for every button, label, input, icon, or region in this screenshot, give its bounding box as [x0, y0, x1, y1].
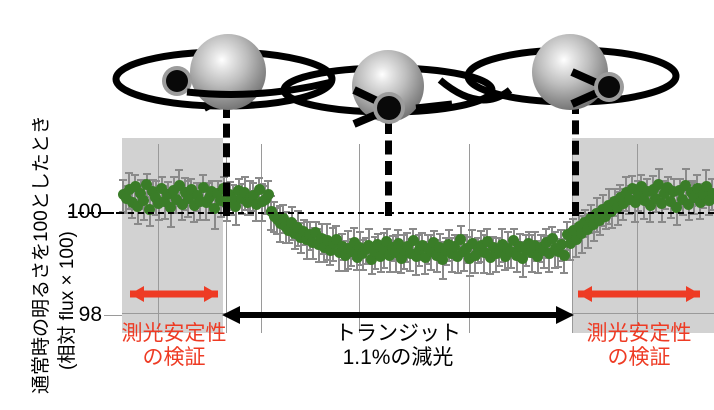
orbit-direction-arrow-after	[440, 18, 680, 118]
error-bar-cap	[507, 267, 515, 269]
error-bar-cap	[614, 224, 622, 226]
left-calibration-label: 測光安定性 の検証	[110, 322, 238, 369]
error-bar-cap	[445, 229, 453, 231]
error-bar-cap	[430, 230, 438, 232]
connector-line-center	[385, 120, 392, 216]
error-bar-cap	[483, 228, 491, 230]
error-bar-cap	[158, 176, 166, 178]
error-bar-cap	[608, 227, 616, 229]
error-bar-cap	[540, 267, 548, 269]
error-bar-cap	[599, 194, 607, 196]
error-bar-cap	[152, 180, 160, 182]
error-bar-cap	[631, 221, 639, 223]
error-bar-cap	[341, 270, 349, 272]
error-bar-cap	[279, 204, 287, 206]
error-bar-cap	[696, 218, 704, 220]
error-bar-cap	[167, 226, 175, 228]
error-bar-cap	[170, 176, 178, 178]
error-bar-cap	[616, 184, 624, 186]
planet-disc-before	[166, 70, 188, 92]
error-bar-cap	[587, 204, 595, 206]
error-bar-cap	[471, 272, 479, 274]
error-bar-cap	[501, 269, 509, 271]
error-bar-cap	[211, 228, 219, 230]
error-bar-cap	[578, 252, 586, 254]
error-bar-cap	[477, 230, 485, 232]
planet-disc-during	[377, 96, 401, 120]
y-tick-mark-98	[104, 315, 122, 316]
left-calibration-label-line2: の検証	[110, 346, 238, 370]
error-bar-cap	[232, 224, 240, 226]
error-bar-cap	[270, 201, 278, 203]
error-bar-cap	[513, 271, 521, 273]
left-calibration-label-line1: 測光安定性	[110, 322, 238, 346]
star-sphere-before	[190, 34, 266, 110]
error-bar-cap	[288, 206, 296, 208]
error-bar-cap	[510, 228, 518, 230]
error-bar-cap	[412, 274, 420, 276]
y-axis-label-secondary: (相対 flux × 100)	[52, 231, 79, 370]
error-bar-cap	[708, 209, 714, 211]
error-bar-cap	[140, 219, 148, 221]
error-bar-cap	[347, 265, 355, 267]
right-calibration-arrow	[566, 284, 712, 304]
error-bar-cap	[297, 252, 305, 254]
error-bar-cap	[409, 228, 417, 230]
error-bar-cap	[394, 229, 402, 231]
error-bar-cap	[383, 228, 391, 230]
error-bar-cap	[356, 231, 364, 233]
error-bar-cap	[217, 216, 225, 218]
error-bar-cap	[406, 270, 414, 272]
error-bar-cap	[175, 169, 183, 171]
error-bar-cap	[685, 219, 693, 221]
error-bar-cap	[131, 174, 139, 176]
data-point	[707, 188, 714, 199]
error-bar-cap	[468, 229, 476, 231]
error-bar-cap	[365, 228, 373, 230]
y-tick-label-98: 98	[56, 303, 102, 327]
error-bar-cap	[323, 223, 331, 225]
error-bar-cap	[545, 271, 553, 273]
right-calibration-label: 測光安定性 の検証	[574, 322, 704, 369]
error-bar-cap	[344, 268, 352, 270]
error-bar-cap	[486, 273, 494, 275]
error-bar-cap	[593, 197, 601, 199]
error-bar-cap	[291, 248, 299, 250]
error-bar-cap	[563, 221, 571, 223]
error-bar-cap	[223, 220, 231, 222]
error-bar-cap	[460, 270, 468, 272]
transit-label-line2: 1.1%の減光	[278, 346, 518, 370]
error-bar-cap	[249, 182, 257, 184]
error-bar-cap	[673, 224, 681, 226]
error-bar-cap	[682, 168, 690, 170]
error-bar-cap	[246, 214, 254, 216]
error-bar-cap	[522, 265, 530, 267]
error-bar-cap	[164, 181, 172, 183]
error-bar-cap	[187, 178, 195, 180]
error-bar-cap	[258, 220, 266, 222]
error-bar-cap	[667, 217, 675, 219]
error-bar-cap	[646, 221, 654, 223]
error-bar-cap	[693, 174, 701, 176]
error-bar-cap	[658, 221, 666, 223]
error-bar-cap	[702, 169, 710, 171]
error-bar-cap	[548, 226, 556, 228]
diagram-after-transit	[440, 18, 680, 118]
error-bar-cap	[134, 223, 142, 225]
error-bar-cap	[637, 174, 645, 176]
error-bar-cap	[344, 230, 352, 232]
error-bar-cap	[199, 174, 207, 176]
error-bar-cap	[264, 180, 272, 182]
error-bar-cap	[649, 175, 657, 177]
error-bar-cap	[679, 214, 687, 216]
error-bar-cap	[403, 232, 411, 234]
error-bar-cap	[708, 178, 714, 180]
error-bar-cap	[255, 177, 263, 179]
error-bar-cap	[572, 256, 580, 258]
error-bar-cap	[495, 265, 503, 267]
right-calibration-label-line1: 測光安定性	[574, 322, 704, 346]
error-bar-cap	[241, 176, 249, 178]
error-bar-cap	[178, 219, 186, 221]
error-bar-cap	[439, 278, 447, 280]
error-bar-cap	[359, 269, 367, 271]
error-bar-cap	[519, 276, 527, 278]
error-bar-cap	[590, 240, 598, 242]
error-bar-cap	[371, 268, 379, 270]
error-bar-cap	[640, 218, 648, 220]
error-bar-cap	[628, 175, 636, 177]
error-bar-cap	[202, 219, 210, 221]
error-bar-cap	[190, 221, 198, 223]
error-bar-cap	[619, 219, 627, 221]
transit-light-curve-figure: 通常時の明るさを100としたとき (相対 flux × 100) 100 98	[0, 0, 714, 410]
transit-label: トランジット 1.1%の減光	[278, 322, 518, 369]
error-bar-cap	[569, 218, 577, 220]
data-point	[559, 250, 570, 261]
error-bar-cap	[397, 272, 405, 274]
error-bar-cap	[119, 179, 127, 181]
error-bar-cap	[504, 231, 512, 233]
error-bar-cap	[436, 233, 444, 235]
error-bar-cap	[457, 225, 465, 227]
error-bar-cap	[184, 216, 192, 218]
error-bar-cap	[309, 258, 317, 260]
left-calibration-arrow	[118, 284, 230, 304]
planet-disc-after	[598, 76, 620, 98]
error-bar-cap	[350, 227, 358, 229]
error-bar-cap	[380, 267, 388, 269]
error-bar-cap	[596, 234, 604, 236]
error-bar-cap	[368, 273, 376, 275]
error-bar-cap	[146, 225, 154, 227]
error-bar-cap	[377, 271, 385, 273]
error-bar-cap	[326, 264, 334, 266]
error-bar-cap	[534, 272, 542, 274]
error-bar-cap	[161, 218, 169, 220]
error-bar-cap	[584, 247, 592, 249]
error-bar-cap	[611, 188, 619, 190]
error-bar-cap	[560, 272, 568, 274]
error-bar-cap	[421, 273, 429, 275]
right-calibration-label-line2: の検証	[574, 346, 704, 370]
error-bar-cap	[466, 275, 474, 277]
error-bar-cap	[554, 266, 562, 268]
error-bar-cap	[676, 178, 684, 180]
y-axis-label-primary: 通常時の明るさを100としたとき	[26, 115, 53, 394]
transit-label-line1: トランジット	[278, 322, 518, 346]
error-bar-cap	[415, 265, 423, 267]
error-bar-cap	[332, 225, 340, 227]
error-bar-cap	[705, 214, 713, 216]
error-bar-cap	[581, 209, 589, 211]
error-bar-cap	[531, 231, 539, 233]
error-bar-cap	[329, 260, 337, 262]
error-bar-cap	[214, 180, 222, 182]
error-bar-cap	[433, 271, 441, 273]
error-bar-cap	[454, 272, 462, 274]
error-bar-cap	[128, 217, 136, 219]
error-bar-cap	[655, 168, 663, 170]
error-bar-cap	[442, 264, 450, 266]
error-bar-cap	[643, 178, 651, 180]
error-bar-cap	[143, 173, 151, 175]
error-bar-cap	[285, 242, 293, 244]
error-bar-cap	[492, 271, 500, 273]
